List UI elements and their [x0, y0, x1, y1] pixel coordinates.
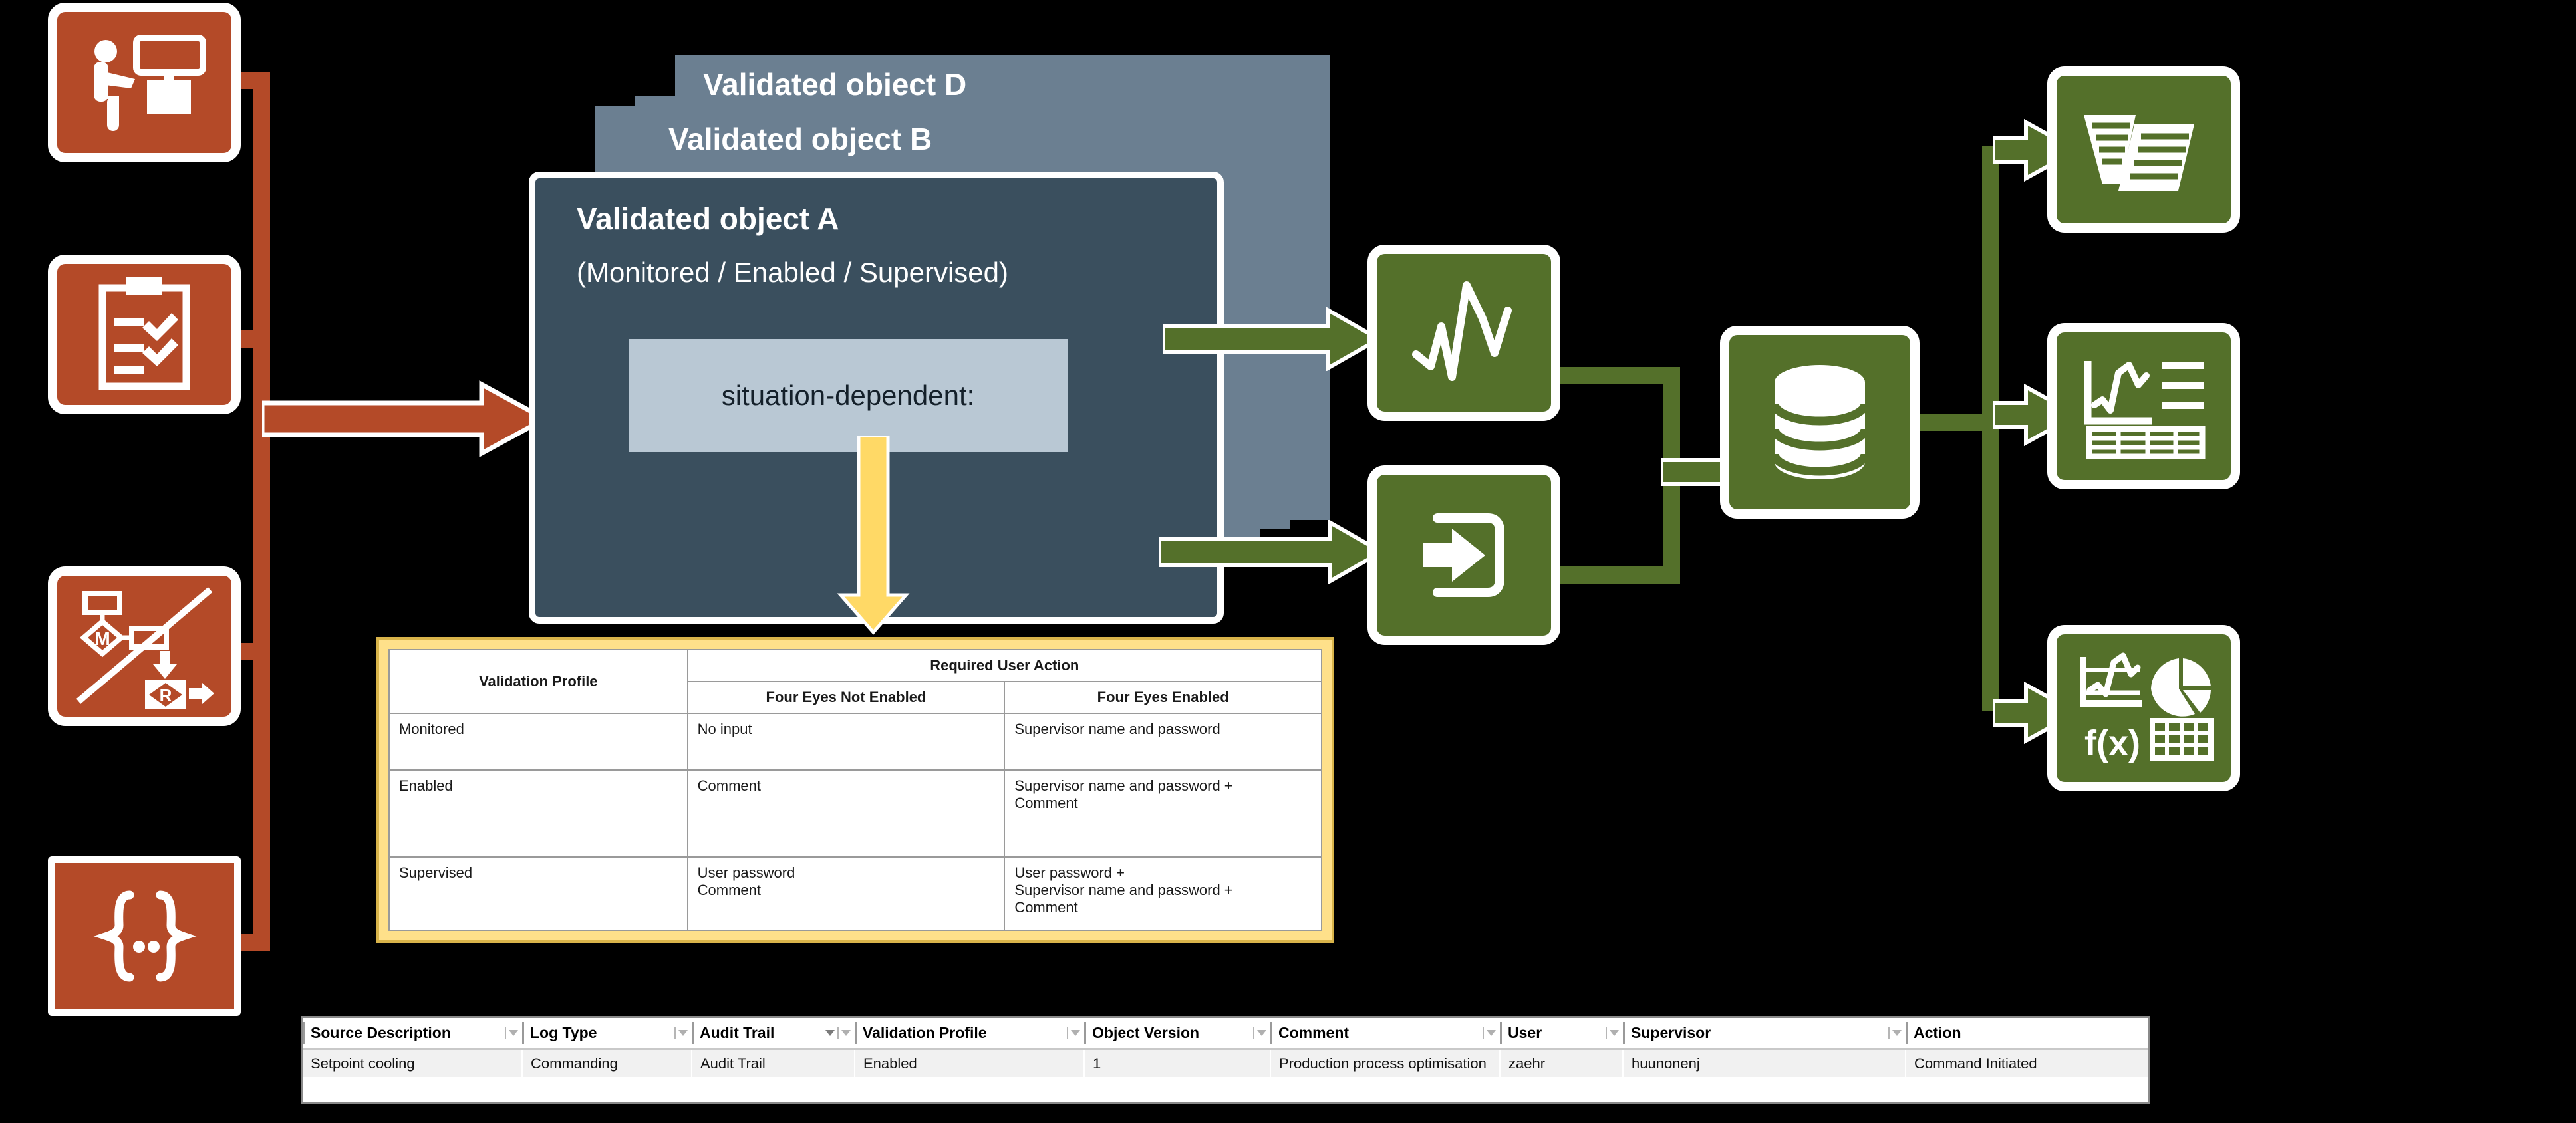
- vp-table-row: Enabled Comment Supervisor name and pass…: [389, 770, 1322, 857]
- operator-workstation-icon: [78, 33, 211, 132]
- vp-subheader-four-eyes-on: Four Eyes Enabled: [1004, 682, 1322, 713]
- log-col-label: Audit Trail: [700, 1024, 821, 1042]
- sort-controls[interactable]: [1888, 1027, 1902, 1039]
- connector-green-login-out: [1560, 566, 1680, 584]
- column-separator[interactable]: [855, 1022, 857, 1044]
- sort-controls[interactable]: [505, 1027, 518, 1039]
- validation-profile-table: Validation Profile Required User Action …: [388, 649, 1322, 931]
- resize-handle-icon[interactable]: [674, 1027, 676, 1039]
- audit-log-grid[interactable]: Source Description Log Type: [301, 1016, 2150, 1104]
- vp-cell-enabled: Supervisor name and password: [1004, 713, 1322, 770]
- svg-text:M: M: [94, 628, 110, 649]
- vp-cell-line: Comment: [698, 882, 995, 899]
- vp-cell-line: Supervisor name and password: [1014, 721, 1312, 738]
- sort-controls[interactable]: [1067, 1027, 1080, 1039]
- chevron-down-icon[interactable]: [841, 1030, 851, 1036]
- svg-text:R: R: [160, 686, 172, 705]
- log-col-supervisor[interactable]: Supervisor: [1623, 1018, 1906, 1049]
- column-separator[interactable]: [522, 1022, 524, 1044]
- vp-subheader-four-eyes-off: Four Eyes Not Enabled: [688, 682, 1005, 713]
- sort-controls[interactable]: [1253, 1027, 1266, 1039]
- diagram-canvas: M R Validated object D Validated object …: [0, 0, 2576, 1123]
- log-cell-supervisor: huunonenj: [1623, 1049, 1906, 1078]
- log-col-action[interactable]: Action: [1906, 1018, 2150, 1049]
- engineering-diagram-icon-tile[interactable]: M R: [48, 566, 241, 726]
- log-col-log-type[interactable]: Log Type: [522, 1018, 692, 1049]
- chevron-down-icon[interactable]: [1487, 1030, 1496, 1036]
- script-braces-icon: [78, 883, 211, 989]
- arrow-green-card-to-login: [1159, 520, 1385, 584]
- vp-cell-not-enabled: User password Comment: [688, 857, 1005, 930]
- chevron-down-icon[interactable]: [509, 1030, 518, 1036]
- svg-text:f(x): f(x): [2084, 723, 2140, 763]
- log-cell-source-description: Setpoint cooling: [303, 1049, 522, 1078]
- script-braces-icon-tile[interactable]: [48, 856, 241, 1016]
- arrow-yellow-down-to-profile-table: [837, 436, 910, 635]
- log-col-object-version[interactable]: Object Version: [1084, 1018, 1270, 1049]
- column-separator[interactable]: [1270, 1022, 1272, 1044]
- log-col-label: Log Type: [530, 1024, 670, 1042]
- log-col-label: User: [1508, 1024, 1602, 1042]
- analytics-fx-icon: f(x): [2074, 652, 2214, 765]
- log-col-label: Validation Profile: [863, 1024, 1063, 1042]
- resize-handle-icon[interactable]: [505, 1027, 506, 1039]
- vp-cell-line: User password +: [1014, 864, 1312, 882]
- validation-profile-table-wrap: Validation Profile Required User Action …: [376, 637, 1334, 943]
- report-document-icon: [2077, 103, 2210, 196]
- database-icon-tile[interactable]: [1720, 326, 1920, 519]
- column-separator[interactable]: [1906, 1022, 1908, 1044]
- audit-log-header-row: Source Description Log Type: [303, 1018, 2150, 1049]
- resize-handle-icon[interactable]: [1253, 1027, 1254, 1039]
- log-cell-user: zaehr: [1500, 1049, 1623, 1078]
- login-enter-icon: [1411, 502, 1517, 608]
- resize-handle-icon[interactable]: [1067, 1027, 1068, 1039]
- vp-cell-not-enabled: Comment: [688, 770, 1005, 857]
- vp-cell-not-enabled: No input: [688, 713, 1005, 770]
- log-col-comment[interactable]: Comment: [1270, 1018, 1500, 1049]
- log-col-label: Action: [1914, 1024, 2148, 1042]
- vp-cell-profile: Monitored: [389, 713, 688, 770]
- vp-table-row: Monitored No input Supervisor name and p…: [389, 713, 1322, 770]
- vp-cell-line: Supervisor name and password +: [1014, 882, 1312, 899]
- sort-controls[interactable]: [1606, 1027, 1619, 1039]
- vp-cell-profile: Supervised: [389, 857, 688, 930]
- vp-cell-enabled: Supervisor name and password + Comment: [1004, 770, 1322, 857]
- log-cell-object-version: 1: [1084, 1049, 1270, 1078]
- operator-workstation-icon-tile[interactable]: [48, 3, 241, 162]
- vp-cell-profile: Enabled: [389, 770, 688, 857]
- column-separator[interactable]: [692, 1022, 694, 1044]
- vp-header-profile: Validation Profile: [389, 650, 688, 713]
- vp-cell-line: Supervisor name and password +: [1014, 777, 1312, 795]
- sort-controls[interactable]: [674, 1027, 688, 1039]
- vp-table-row: Supervised User password Comment User pa…: [389, 857, 1322, 930]
- trend-signal-icon-tile[interactable]: [1367, 245, 1560, 421]
- sort-controls[interactable]: [1483, 1027, 1496, 1039]
- log-cell-audit-trail: Audit Trail: [692, 1049, 855, 1078]
- validated-object-card-a-title: Validated object A: [577, 201, 839, 237]
- log-col-user[interactable]: User: [1500, 1018, 1623, 1049]
- database-icon: [1765, 362, 1875, 482]
- chevron-down-icon[interactable]: [1257, 1030, 1266, 1036]
- vp-cell-enabled: User password + Supervisor name and pass…: [1004, 857, 1322, 930]
- situation-dependent-label: situation-dependent:: [722, 380, 975, 412]
- log-col-label: Comment: [1278, 1024, 1479, 1042]
- log-col-source-description[interactable]: Source Description: [303, 1018, 522, 1049]
- report-document-icon-tile[interactable]: [2047, 66, 2240, 233]
- resize-handle-icon[interactable]: [1483, 1027, 1484, 1039]
- resize-handle-icon[interactable]: [1606, 1027, 1607, 1039]
- column-separator[interactable]: [1500, 1022, 1502, 1044]
- vp-cell-line: Comment: [698, 777, 995, 795]
- vp-cell-line: No input: [698, 721, 995, 738]
- log-col-label: Source Description: [311, 1024, 501, 1042]
- chart-table-report-icon: [2077, 353, 2210, 459]
- audit-log-table: Source Description Log Type: [303, 1018, 2150, 1077]
- log-col-label: Object Version: [1092, 1024, 1249, 1042]
- log-col-audit-trail[interactable]: Audit Trail: [692, 1018, 855, 1049]
- connector-green-trend-out: [1560, 367, 1680, 384]
- log-cell-comment: Production process optimisation: [1270, 1049, 1500, 1078]
- log-cell-validation-profile: Enabled: [855, 1049, 1084, 1078]
- engineering-diagram-icon: M R: [68, 583, 221, 709]
- filter-icon[interactable]: [825, 1030, 835, 1036]
- vp-cell-line: User password: [698, 864, 995, 882]
- column-separator[interactable]: [1084, 1022, 1086, 1044]
- chevron-down-icon[interactable]: [678, 1030, 688, 1036]
- audit-log-row: Setpoint cooling Commanding Audit Trail …: [303, 1049, 2150, 1078]
- analytics-fx-icon-tile[interactable]: f(x): [2047, 625, 2240, 791]
- login-enter-icon-tile[interactable]: [1367, 465, 1560, 645]
- resize-handle-icon[interactable]: [837, 1027, 839, 1039]
- chevron-down-icon[interactable]: [1610, 1030, 1619, 1036]
- chart-table-report-icon-tile[interactable]: [2047, 323, 2240, 489]
- log-cell-action: Command Initiated: [1906, 1049, 2150, 1078]
- vp-cell-line: Comment: [1014, 795, 1312, 812]
- connector-orange-vertical-bus: [253, 72, 270, 943]
- column-separator[interactable]: [303, 1022, 305, 1044]
- validated-object-card-a-subtitle: (Monitored / Enabled / Supervised): [577, 257, 1008, 289]
- checklist-icon: [94, 275, 194, 394]
- vp-cell-line: Comment: [1014, 899, 1312, 916]
- sort-controls[interactable]: [825, 1027, 851, 1039]
- column-separator[interactable]: [1623, 1022, 1625, 1044]
- log-cell-log-type: Commanding: [522, 1049, 692, 1078]
- checklist-icon-tile[interactable]: [48, 255, 241, 414]
- log-col-validation-profile[interactable]: Validation Profile: [855, 1018, 1084, 1049]
- resize-handle-icon[interactable]: [1888, 1027, 1890, 1039]
- log-col-label: Supervisor: [1631, 1024, 1884, 1042]
- arrow-orange-to-validated-object: [262, 379, 548, 459]
- trend-signal-icon: [1411, 280, 1517, 386]
- chevron-down-icon[interactable]: [1892, 1030, 1902, 1036]
- validated-object-card-b-title: Validated object B: [668, 121, 932, 157]
- chevron-down-icon[interactable]: [1071, 1030, 1080, 1036]
- arrow-green-card-to-trend: [1163, 307, 1382, 371]
- vp-header-action: Required User Action: [688, 650, 1322, 682]
